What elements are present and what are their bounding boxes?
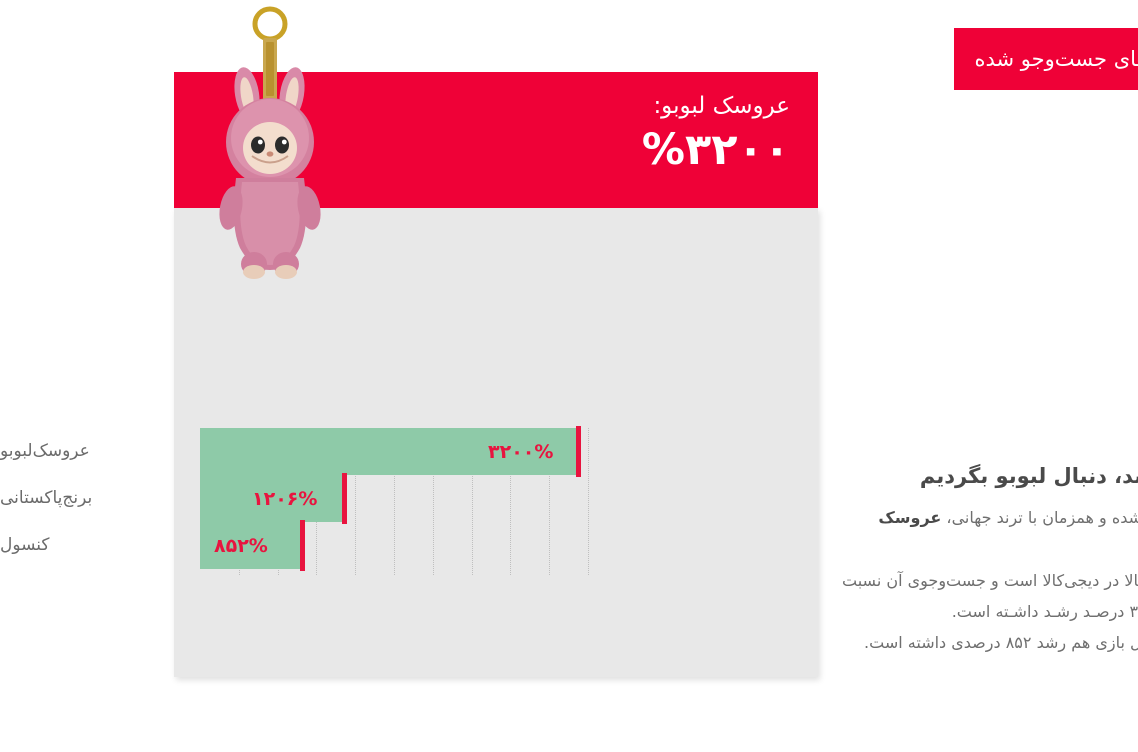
story-body: حالا که جنگ تمام شده و همزمان با ترند جه…	[692, 502, 1112, 658]
story-title: جنگ تمام شد، دنبال لبوبو بگردیم	[692, 462, 1112, 490]
bar-end-marker	[194, 473, 199, 524]
gridline	[440, 428, 441, 575]
story-block: جنگ تمام شد، دنبال لبوبو بگردیم حالا که …	[692, 462, 1112, 658]
story-line-3: به دوران جنگ ۳۲۰۰ درصـد رشـد داشـته است.	[692, 596, 1112, 627]
promo-value: %۳۲۰۰	[494, 129, 642, 172]
category-label: عروسک‌لبوبو	[0, 441, 2, 461]
search-header-label: کالاهای جست‌وجو شده	[826, 49, 1028, 70]
bar-end-marker	[152, 520, 157, 571]
infographic-card: عروسک لبوبو: %۳۲۰۰	[26, 72, 670, 677]
story-line-2: پرجست‌وجوترین کالا در دیجی‌کالا است و جس…	[692, 565, 1112, 596]
story-paragraph-1: حالا که جنگ تمام شده و همزمان با ترند جه…	[692, 502, 1112, 564]
labubu-plush-keychain-icon	[68, 2, 176, 280]
category-label: کنسول	[0, 535, 2, 555]
bar-end-marker	[428, 426, 433, 477]
chart-plot-area: ۳۲۰۰% ۱۲۰۶% ۸۵۲% عروسک‌لبوبو برنج‌پاکستا…	[52, 428, 440, 575]
search-header-label-cell: کالاهای جست‌وجو شده	[806, 28, 1050, 90]
bar-value-label: ۸۵۲%	[66, 535, 120, 557]
bar-row: ۸۵۲%	[52, 522, 440, 569]
bar-row: ۱۲۰۶%	[52, 475, 440, 522]
promo-text-group: عروسک لبوبو: %۳۲۰۰	[494, 94, 642, 172]
story-line-4: جست‌وجوی کنسول بازی هم رشد ۸۵۲ درصدی داش…	[692, 627, 1112, 658]
search-header-pill[interactable]: کالاهای جست‌وجو شده	[806, 28, 1112, 90]
story-line-1a: حالا که جنگ تمام شده و همزمان با ترند جه…	[793, 508, 1112, 527]
bar-row: ۳۲۰۰%	[52, 428, 440, 475]
bar-value-label: ۳۲۰۰%	[340, 441, 405, 463]
search-icon-cell[interactable]	[1050, 28, 1112, 90]
digikala-smile-icon	[1020, 684, 1112, 730]
bar-value-label: ۱۲۰۶%	[104, 488, 169, 510]
category-label: برنج‌پاکستانی	[0, 488, 2, 508]
search-icon	[1063, 42, 1097, 76]
promo-label: عروسک لبوبو:	[494, 94, 642, 119]
